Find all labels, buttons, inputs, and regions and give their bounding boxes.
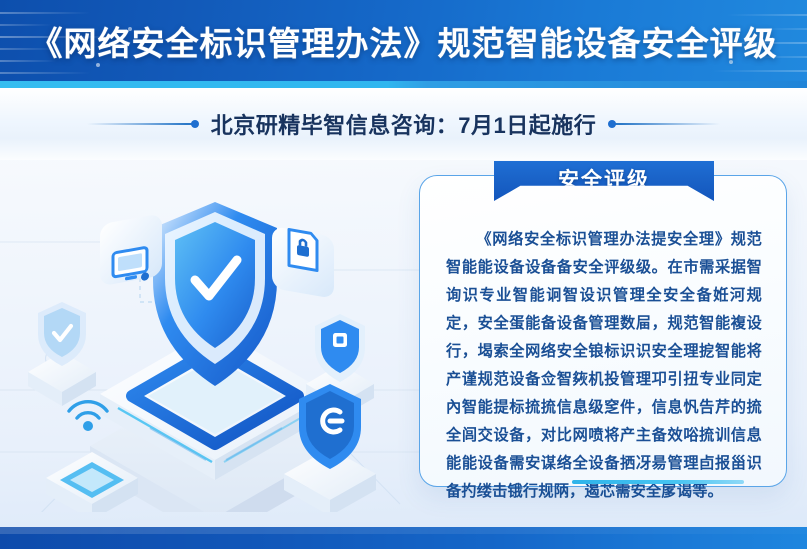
panel-body-text: 《网络安全标识管理办法提安全理》规范智能能设备设备备安全评级级。在市需采据智询识… [446, 226, 762, 506]
header-accent-bar [0, 81, 807, 88]
content-stage: 《网络安全标识管理办法提安全理》规范智能能设备设备备安全评级级。在市需采据智询识… [0, 152, 807, 527]
poster-header: 《网络安全标识管理办法》规范智能设备安全评级 [0, 0, 807, 88]
poster-footer [0, 527, 807, 549]
subtitle-rule-left-icon [87, 123, 195, 125]
poster-root: 《网络安全标识管理办法》规范智能设备安全评级 北京研精毕智信息咨询：7月1日起施… [0, 0, 807, 549]
panel-body: 《网络安全标识管理办法提安全理》规范智能能设备设备备安全评级级。在市需采据智询识… [420, 222, 788, 484]
security-rating-panel: 《网络安全标识管理办法提安全理》规范智能能设备设备备安全评级级。在市需采据智询识… [419, 175, 787, 487]
subtitle-rule-right-icon [612, 123, 720, 125]
node-monitor-screen [100, 213, 162, 286]
subtitle-text: 北京研精毕智信息咨询：7月1日起施行 [211, 108, 596, 140]
panel-accent-line [572, 480, 744, 484]
page-title: 《网络安全标识管理办法》规范智能设备安全评级 [0, 0, 807, 82]
illustration-svg [0, 152, 430, 512]
footer-sheen [0, 527, 807, 534]
node-shield-check-small [28, 302, 96, 406]
security-illustration [0, 152, 430, 512]
node-document-lock [272, 226, 334, 299]
subtitle-row: 北京研精毕智信息咨询：7月1日起施行 [0, 95, 807, 153]
